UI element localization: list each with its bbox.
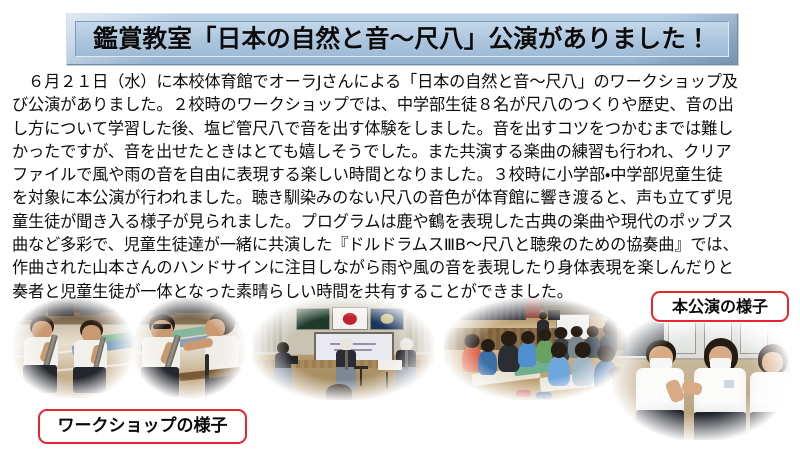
photo-workshop-left: [12, 298, 134, 398]
body-line: び公演がありました。２校時のワークショップでは、中学部生徒８名が尺八のつくりや歴…: [12, 93, 791, 116]
photo-students-listening: [612, 310, 790, 440]
caption-performance: 本公演の様子: [651, 291, 789, 322]
title-banner: 鑑賞教室「日本の自然と音～尺八」公演がありました！: [66, 13, 738, 65]
caption-workshop: ワークショップの様子: [38, 409, 247, 444]
page-title: 鑑賞教室「日本の自然と音～尺八」公演がありました！: [93, 27, 711, 52]
photo-workshop-right: [133, 298, 245, 398]
newsletter-page: 鑑賞教室「日本の自然と音～尺八」公演がありました！ ６月２１日（水）に本校体育館…: [0, 0, 800, 454]
caption-workshop-label: ワークショップの様子: [58, 418, 228, 435]
body-line: 童生徒が聞き入る様子が見られました。プログラムは鹿や鶴を表現した古典の楽曲や現代…: [12, 210, 791, 233]
body-line: ファイルで風や雨の音を自由に表現する楽しい時間となりました。３校時に小学部・中学…: [12, 163, 791, 186]
body-line: 曲など多彩で、児童生徒達が一緒に共演した『ドルドラムスⅢB～尺八と聴衆のための協…: [12, 233, 791, 256]
caption-performance-label: 本公演の様子: [672, 299, 768, 315]
body-line: を対象に本公演が行われました。聴き馴染みのない尺八の音色が体育館に響き渡ると、声…: [12, 186, 791, 209]
photo-stage-performance: [252, 296, 434, 400]
banner-inner-plate: 鑑賞教室「日本の自然と音～尺八」公演がありました！: [75, 21, 729, 57]
photo-audience-floor: [444, 298, 626, 400]
body-line: 作曲された山本さんのハンドサインに注目しながら雨や風の音を表現したり身体表現を楽…: [12, 256, 791, 279]
body-line: かったですが、音を出せたときはとても嬉しそうでした。また共演する楽曲の練習も行わ…: [12, 140, 791, 163]
article-body: ６月２１日（水）に本校体育館でオーラJさんによる「日本の自然と音～尺八」のワーク…: [12, 70, 791, 303]
body-line: し方について学習した後、塩ビ管尺八で音を出す体験をしました。音を出すコツをつかむ…: [12, 117, 791, 140]
body-line: ６月２１日（水）に本校体育館でオーラJさんによる「日本の自然と音～尺八」のワーク…: [12, 70, 791, 93]
